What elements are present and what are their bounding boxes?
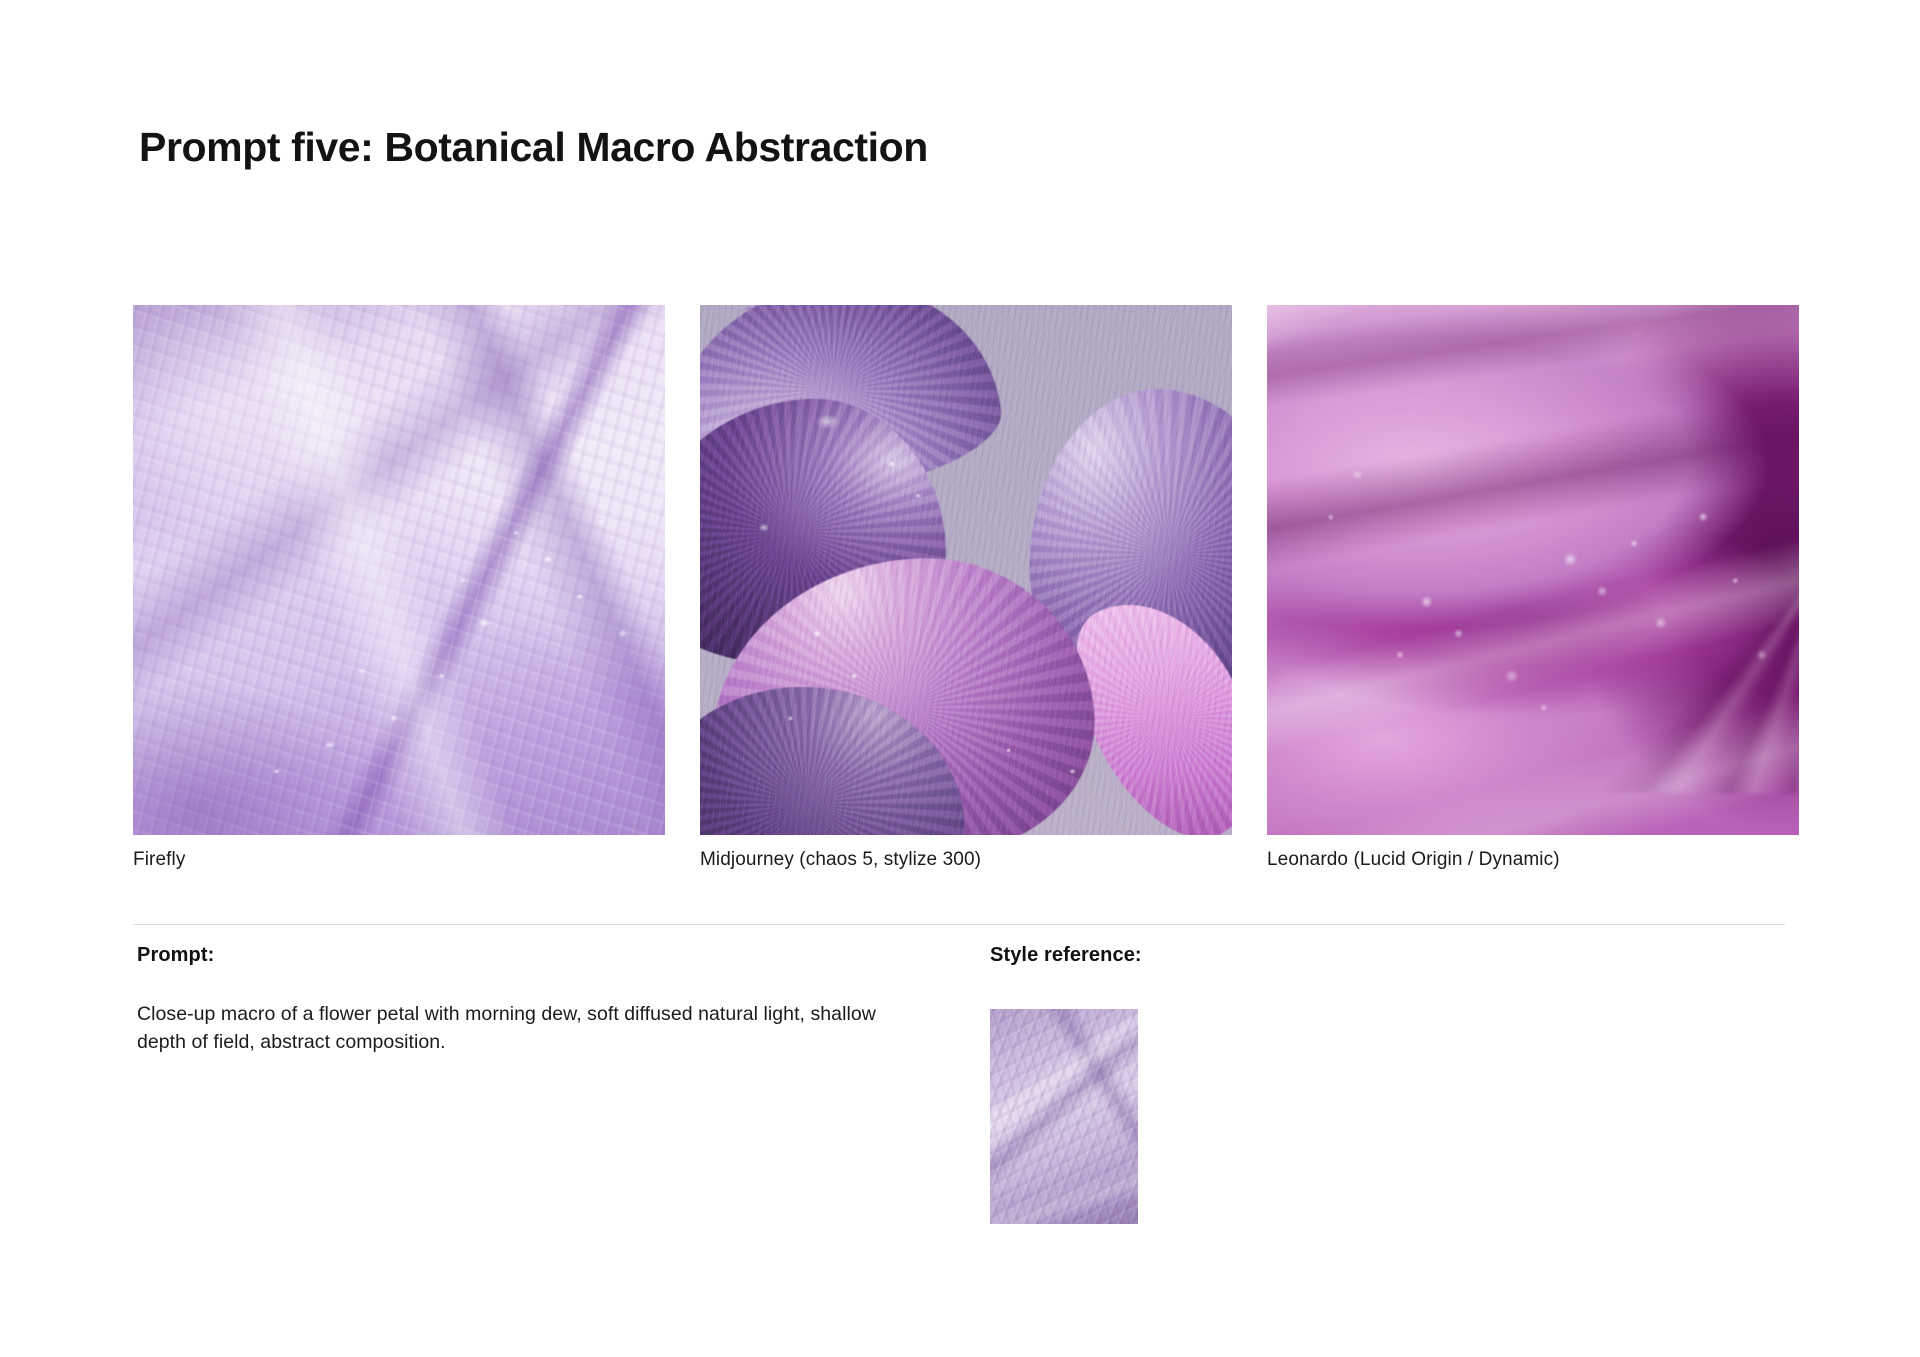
- style-reference-thumbnail[interactable]: [990, 1009, 1138, 1224]
- prompt-section: Prompt: Close-up macro of a flower petal…: [137, 944, 927, 1056]
- gallery-caption-row: Firefly Midjourney (chaos 5, stylize 300…: [133, 849, 1803, 871]
- leonardo-artwork: [1267, 305, 1799, 835]
- style-reference-section: Style reference:: [990, 944, 1350, 1224]
- section-divider: [133, 924, 1785, 925]
- page-title: Prompt five: Botanical Macro Abstraction: [139, 124, 928, 171]
- prompt-label: Prompt:: [137, 944, 927, 967]
- gallery-item-leonardo[interactable]: [1267, 305, 1799, 835]
- gallery-item-firefly[interactable]: [133, 305, 665, 835]
- style-reference-artwork: [990, 1009, 1138, 1224]
- gallery-item-midjourney[interactable]: [700, 305, 1232, 835]
- caption-firefly: Firefly: [133, 849, 665, 871]
- image-gallery: [133, 305, 1803, 835]
- slide-canvas: Prompt five: Botanical Macro Abstraction: [0, 0, 1920, 1357]
- caption-leonardo: Leonardo (Lucid Origin / Dynamic): [1267, 849, 1799, 871]
- style-reference-label: Style reference:: [990, 944, 1350, 967]
- caption-midjourney: Midjourney (chaos 5, stylize 300): [700, 849, 1232, 871]
- midjourney-render[interactable]: [700, 305, 1232, 835]
- midjourney-artwork: [700, 305, 1232, 835]
- firefly-render[interactable]: [133, 305, 665, 835]
- petal-streaks: [1267, 305, 1799, 835]
- firefly-artwork: [133, 305, 665, 835]
- prompt-text: Close-up macro of a flower petal with mo…: [137, 1001, 907, 1056]
- leonardo-render[interactable]: [1267, 305, 1799, 835]
